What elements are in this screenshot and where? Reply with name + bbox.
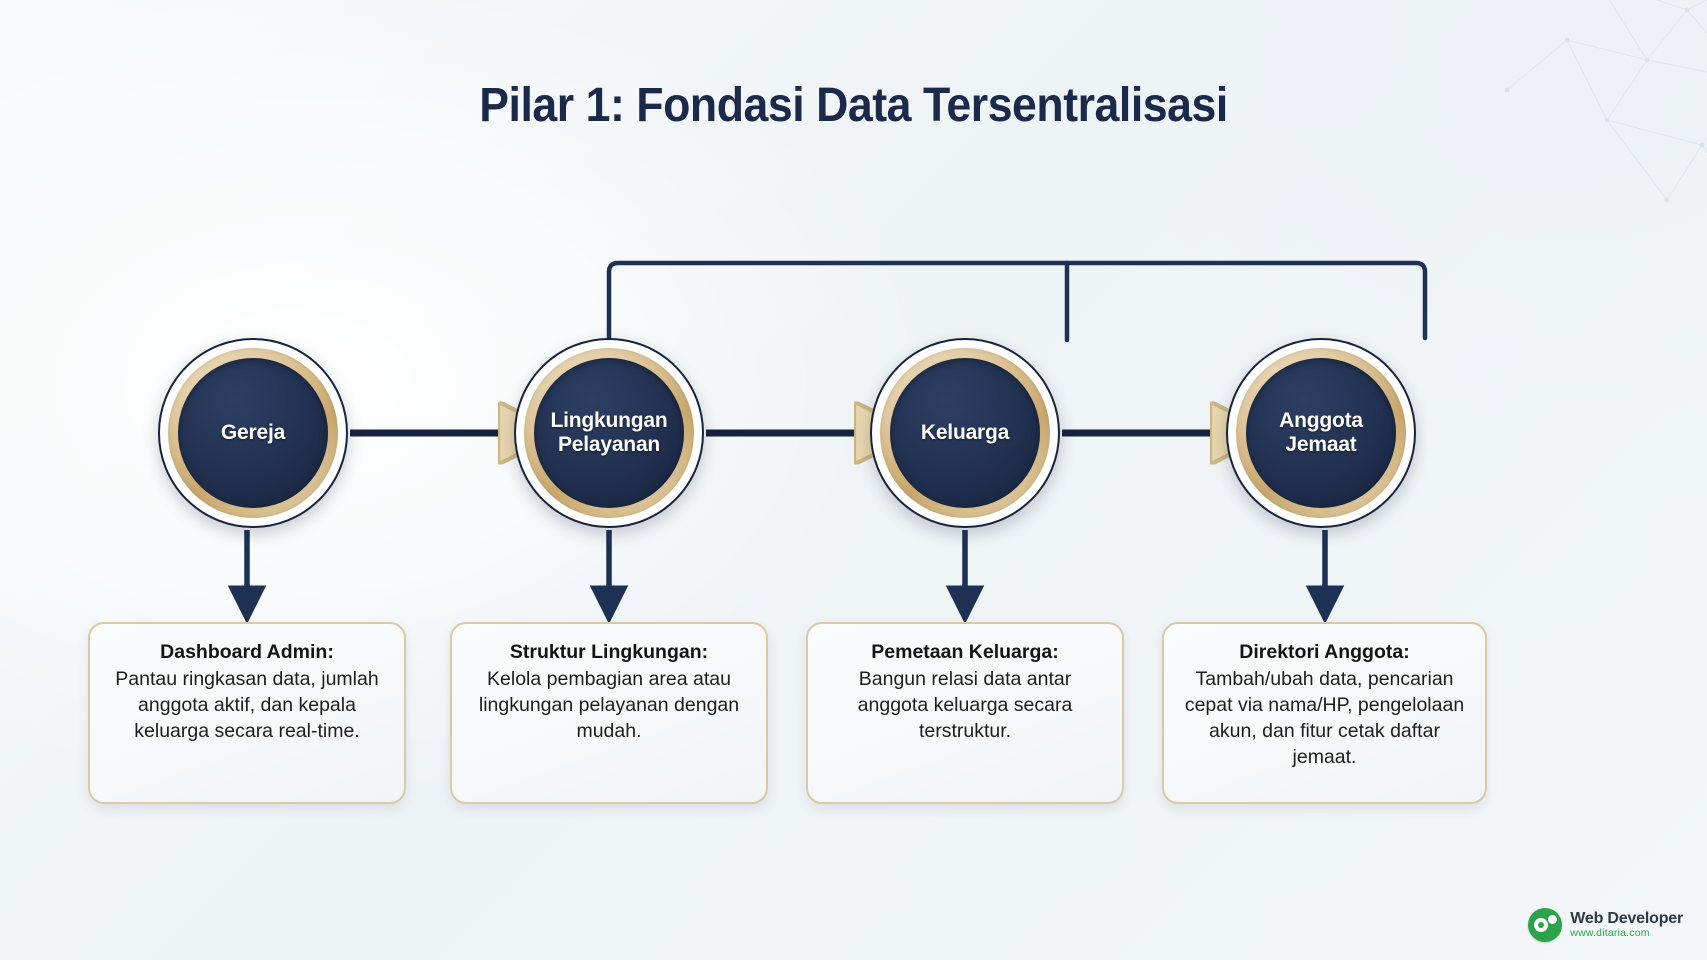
polygon-texture-decoration: [1127, 0, 1707, 300]
card-body: Bangun relasi data antar anggota keluarg…: [824, 667, 1106, 745]
logo-eye-dot: [1548, 915, 1557, 924]
web-developer-logo-icon: [1528, 908, 1562, 942]
bracket-top-connector: [609, 263, 1425, 338]
card-heading: Pemetaan Keluarga:: [824, 640, 1106, 666]
flow-node-label: Lingkungan Pelayanan: [543, 409, 676, 456]
node-core: Lingkungan Pelayanan: [534, 358, 684, 508]
flow-node-anggota-jemaat[interactable]: Anggota Jemaat: [1226, 338, 1416, 528]
page-title: Pilar 1: Fondasi Data Tersentralisasi: [60, 78, 1648, 133]
node-gold-ring: Gereja: [168, 348, 338, 518]
watermark-logo: Web Developer www.ditaria.com: [1528, 908, 1683, 942]
card-heading: Dashboard Admin:: [106, 640, 388, 666]
feature-card-dashboard-admin[interactable]: Dashboard Admin: Pantau ringkasan data, …: [88, 622, 406, 804]
node-core: Anggota Jemaat: [1246, 358, 1396, 508]
card-heading: Direktori Anggota:: [1180, 640, 1469, 666]
card-body: Pantau ringkasan data, jumlah anggota ak…: [106, 667, 388, 745]
card-body: Kelola pembagian area atau lingkungan pe…: [468, 667, 750, 745]
flow-node-keluarga[interactable]: Keluarga: [870, 338, 1060, 528]
node-core: Gereja: [178, 358, 328, 508]
flow-node-gereja[interactable]: Gereja: [158, 338, 348, 528]
node-gold-ring: Anggota Jemaat: [1236, 348, 1406, 518]
logo-name: Web Developer: [1570, 911, 1683, 928]
feature-card-pemetaan-keluarga[interactable]: Pemetaan Keluarga: Bangun relasi data an…: [806, 622, 1124, 804]
infographic-canvas: Pilar 1: Fondasi Data Tersentralisasi: [0, 0, 1707, 960]
card-body: Tambah/ubah data, pencarian cepat via na…: [1180, 667, 1469, 771]
logo-text-block: Web Developer www.ditaria.com: [1570, 911, 1683, 939]
flow-node-label: Anggota Jemaat: [1271, 409, 1371, 456]
flow-node-lingkungan-pelayanan[interactable]: Lingkungan Pelayanan: [514, 338, 704, 528]
logo-url: www.ditaria.com: [1570, 928, 1683, 939]
flow-node-label: Gereja: [213, 421, 293, 445]
feature-card-struktur-lingkungan[interactable]: Struktur Lingkungan: Kelola pembagian ar…: [450, 622, 768, 804]
card-heading: Struktur Lingkungan:: [468, 640, 750, 666]
node-core: Keluarga: [890, 358, 1040, 508]
node-gold-ring: Lingkungan Pelayanan: [524, 348, 694, 518]
node-gold-ring: Keluarga: [880, 348, 1050, 518]
feature-card-direktori-anggota[interactable]: Direktori Anggota: Tambah/ubah data, pen…: [1162, 622, 1487, 804]
flow-node-label: Keluarga: [913, 421, 1017, 445]
